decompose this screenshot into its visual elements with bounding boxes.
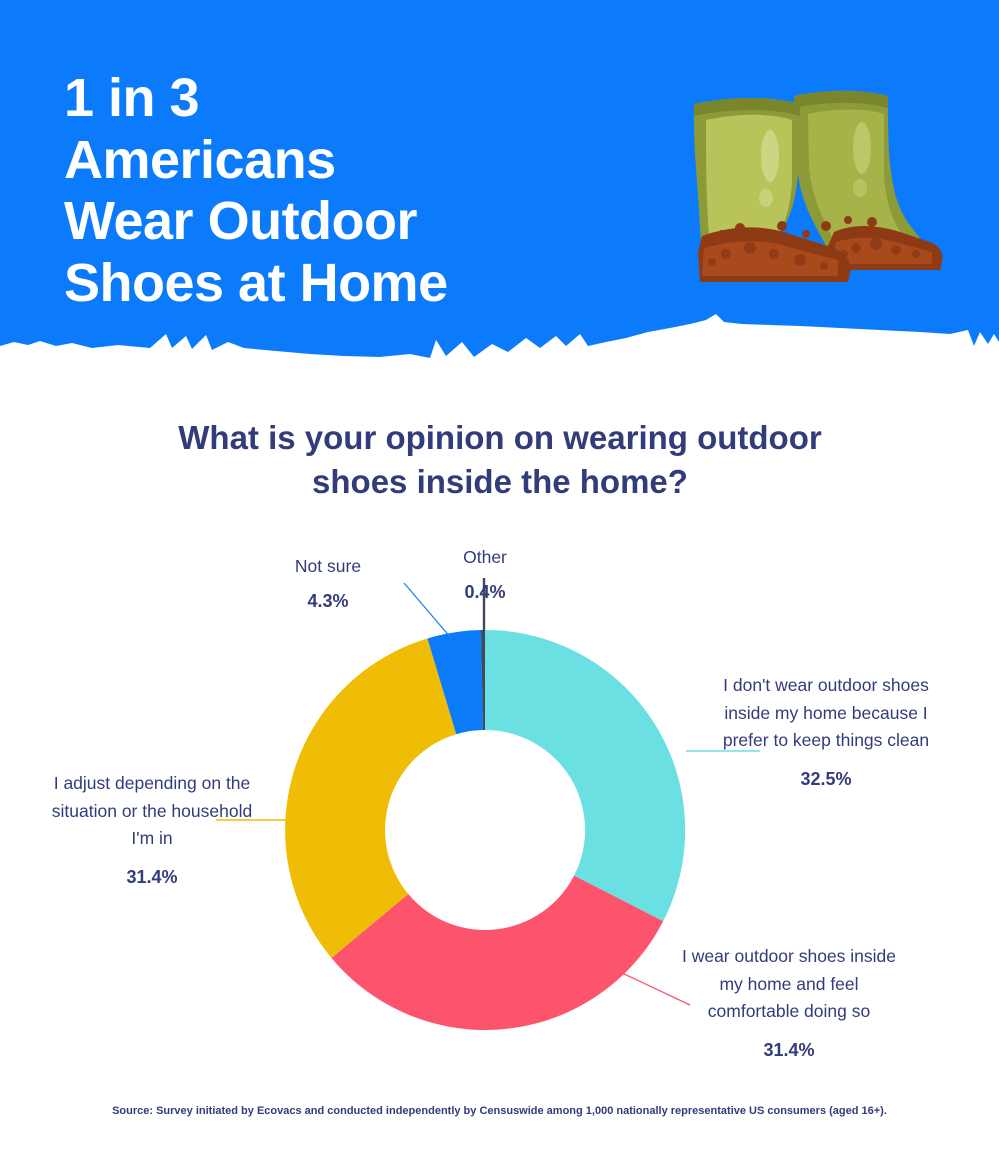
label-comfort-text: I wear outdoor shoes inside my home and … <box>682 946 896 1021</box>
label-adjust-text: I adjust depending on the situation or t… <box>52 773 252 848</box>
source-note: Source: Survey initiated by Ecovacs and … <box>0 1105 999 1117</box>
label-clean-text: I don't wear outdoor shoes inside my hom… <box>723 675 929 750</box>
label-clean-pct: 32.5% <box>700 765 952 793</box>
chart-title: What is your opinion on wearing outdoor … <box>60 416 940 504</box>
label-adjust: I adjust depending on the situation or t… <box>48 770 256 891</box>
label-comfort: I wear outdoor shoes inside my home and … <box>676 943 902 1064</box>
slice-adjust[interactable] <box>285 638 456 958</box>
label-other-pct: 0.4% <box>430 578 540 606</box>
muddy-boots-illustration <box>676 56 966 296</box>
label-other-text: Other <box>463 547 507 567</box>
hero-banner: 1 in 3 Americans Wear Outdoor Shoes at H… <box>0 0 999 372</box>
torn-paper-edge <box>0 312 999 372</box>
hero-headline: 1 in 3 Americans Wear Outdoor Shoes at H… <box>64 68 684 314</box>
slice-clean[interactable] <box>485 630 685 921</box>
label-clean: I don't wear outdoor shoes inside my hom… <box>700 672 952 793</box>
label-other: Other 0.4% <box>430 544 540 606</box>
label-adjust-pct: 31.4% <box>48 863 256 891</box>
label-comfort-pct: 31.4% <box>676 1036 902 1064</box>
label-not-sure-pct: 4.3% <box>258 587 398 615</box>
label-not-sure: Not sure 4.3% <box>258 553 398 615</box>
label-not-sure-text: Not sure <box>295 556 361 576</box>
